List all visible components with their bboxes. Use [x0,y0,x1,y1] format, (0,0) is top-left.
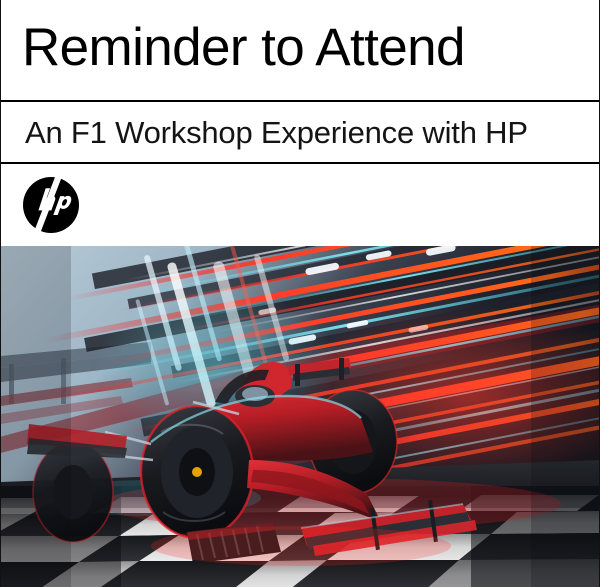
page-subtitle: An F1 Workshop Experience with HP [25,117,528,148]
email-card: Reminder to Attend An F1 Workshop Experi… [0,0,600,587]
subheadline-block: An F1 Workshop Experience with HP [1,102,599,162]
headline-block: Reminder to Attend [1,0,599,100]
page-title: Reminder to Attend [22,21,465,74]
brand-logo-block [1,164,599,246]
hero-image [1,246,600,587]
f1-race-car-illustration [1,246,600,587]
hp-logo-icon [23,177,79,233]
